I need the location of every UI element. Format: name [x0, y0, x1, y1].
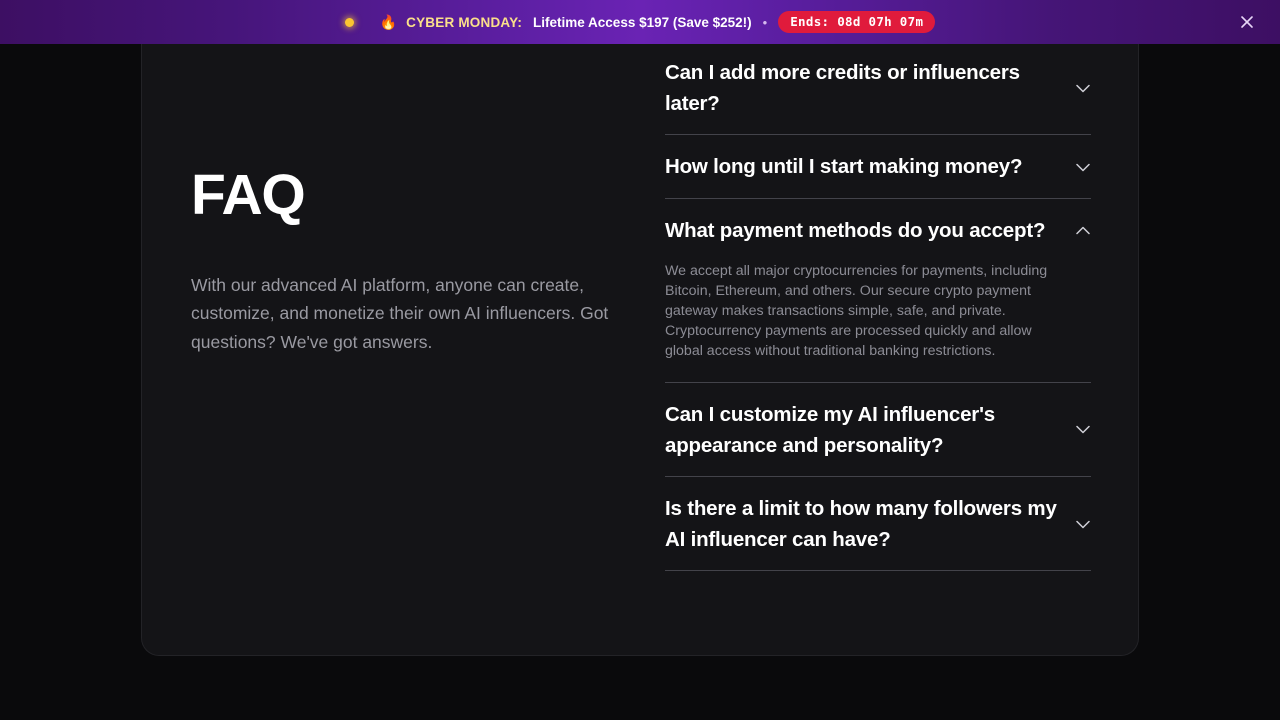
- promo-banner-content: 🔥 CYBER MONDAY: Lifetime Access $197 (Sa…: [345, 11, 936, 33]
- chevron-up-icon[interactable]: [1075, 222, 1091, 238]
- pulse-dot-icon: [345, 18, 354, 27]
- promo-label: CYBER MONDAY:: [406, 15, 522, 30]
- faq-question-text: Can I add more credits or influencers la…: [665, 57, 1061, 119]
- faq-page-card: FAQ With our advanced AI platform, anyon…: [141, 0, 1139, 656]
- faq-question-text: Is there a limit to how many followers m…: [665, 493, 1061, 555]
- faq-item: How long until I start making money?: [665, 135, 1091, 198]
- chevron-down-icon[interactable]: [1075, 159, 1091, 175]
- faq-question-row[interactable]: How long until I start making money?: [665, 135, 1091, 197]
- page-title: FAQ: [191, 167, 621, 224]
- faq-description: With our advanced AI platform, anyone ca…: [191, 271, 611, 356]
- faq-question-row[interactable]: Can I add more credits or influencers la…: [665, 41, 1091, 134]
- faq-question-text: What payment methods do you accept?: [665, 215, 1061, 246]
- promo-separator: •: [763, 15, 768, 30]
- faq-question-row[interactable]: What payment methods do you accept?: [665, 199, 1091, 261]
- faq-item: Can I customize my AI influencer's appea…: [665, 383, 1091, 477]
- close-icon[interactable]: [1236, 11, 1258, 33]
- promo-banner: 🔥 CYBER MONDAY: Lifetime Access $197 (Sa…: [0, 0, 1280, 44]
- chevron-down-icon[interactable]: [1075, 422, 1091, 438]
- faq-section: FAQ With our advanced AI platform, anyon…: [142, 0, 1138, 655]
- faq-question-row[interactable]: Is there a limit to how many followers m…: [665, 477, 1091, 570]
- faq-item: Can I add more credits or influencers la…: [665, 41, 1091, 135]
- chevron-down-icon[interactable]: [1075, 516, 1091, 532]
- faq-intro-column: FAQ With our advanced AI platform, anyon…: [191, 167, 621, 356]
- faq-question-text: How long until I start making money?: [665, 151, 1061, 182]
- faq-item: Is there a limit to how many followers m…: [665, 477, 1091, 571]
- promo-offer-text: Lifetime Access $197 (Save $252!): [533, 15, 752, 30]
- faq-question-text: Can I customize my AI influencer's appea…: [665, 399, 1061, 461]
- chevron-down-icon[interactable]: [1075, 80, 1091, 96]
- flame-icon: 🔥: [380, 15, 397, 29]
- faq-answer-text: We accept all major cryptocurrencies for…: [665, 261, 1065, 382]
- faq-item: What payment methods do you accept?We ac…: [665, 199, 1091, 383]
- faq-question-row[interactable]: Can I customize my AI influencer's appea…: [665, 383, 1091, 476]
- countdown-badge: Ends: 08d 07h 07m: [778, 11, 935, 33]
- faq-accordion: payment plan?Can I add more credits or i…: [665, 0, 1091, 571]
